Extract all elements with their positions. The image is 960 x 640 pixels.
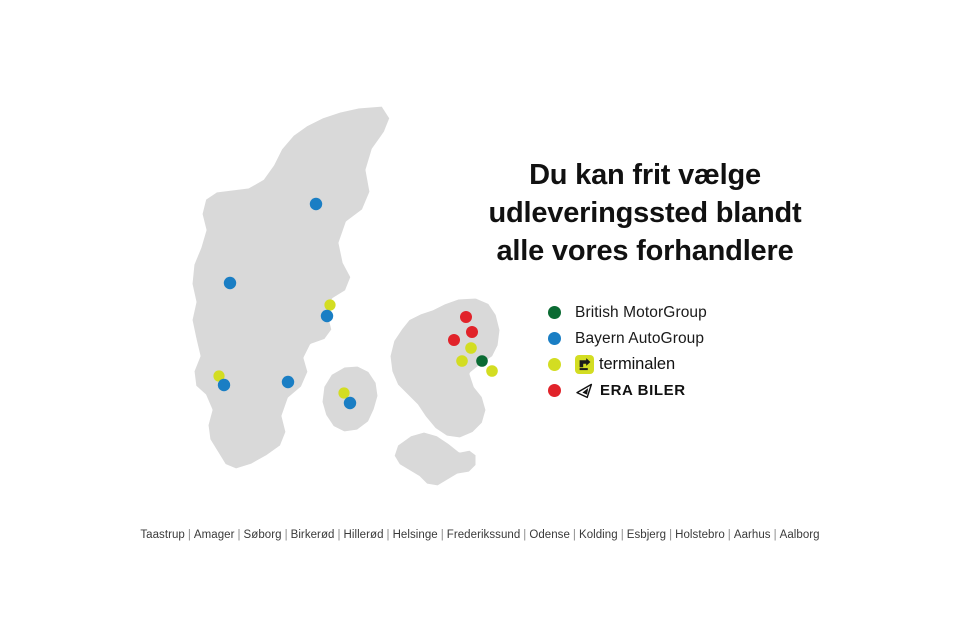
city-name[interactable]: Hillerød <box>344 529 384 541</box>
terminalen-logo: terminalen <box>575 355 675 374</box>
terminalen-arrow-icon <box>575 355 594 374</box>
city-separator: | <box>235 529 244 541</box>
city-separator: | <box>438 529 447 541</box>
city-name[interactable]: Frederikssund <box>447 529 521 541</box>
map-marker[interactable] <box>344 397 356 409</box>
city-separator: | <box>282 529 291 541</box>
legend-item-terminalen[interactable]: terminalen <box>548 352 848 377</box>
map-marker[interactable] <box>456 355 468 367</box>
legend-dot-blue <box>548 332 561 345</box>
legend-dot-red <box>548 384 561 397</box>
legend-item-era-biler[interactable]: ERA BILER <box>548 378 848 403</box>
city-separator: | <box>384 529 393 541</box>
city-separator: | <box>570 529 579 541</box>
city-separator: | <box>725 529 734 541</box>
city-name[interactable]: Holstebro <box>675 529 725 541</box>
terminalen-wordmark: terminalen <box>599 355 675 374</box>
city-name[interactable]: Taastrup <box>140 529 185 541</box>
map-marker[interactable] <box>338 387 349 398</box>
headline-line-1: Du kan frit vælge <box>470 156 820 194</box>
poster-canvas: Du kan frit vælge udleveringssted blandt… <box>0 0 960 640</box>
map-marker[interactable] <box>465 342 477 354</box>
city-name[interactable]: Helsinge <box>393 529 438 541</box>
legend-item-bayern-autogroup[interactable]: Bayern AutoGroup <box>548 326 848 351</box>
map-marker[interactable] <box>218 379 230 391</box>
city-separator: | <box>771 529 780 541</box>
map-marker[interactable] <box>224 277 236 289</box>
map-marker[interactable] <box>324 299 335 310</box>
city-name[interactable]: Kolding <box>579 529 618 541</box>
map-marker[interactable] <box>486 365 498 377</box>
map-marker[interactable] <box>321 310 333 322</box>
era-biler-logo: ERA BILER <box>575 382 686 399</box>
city-separator: | <box>618 529 627 541</box>
legend-dot-green <box>548 306 561 319</box>
legend-dot-yellowgreen <box>548 358 561 371</box>
map-marker[interactable] <box>466 326 478 338</box>
map-region-zealand <box>388 296 502 440</box>
city-name[interactable]: Amager <box>194 529 235 541</box>
map-marker[interactable] <box>282 376 294 388</box>
city-name[interactable]: Birkerød <box>291 529 335 541</box>
city-name[interactable]: Aarhus <box>734 529 771 541</box>
city-name[interactable]: Odense <box>529 529 570 541</box>
city-separator: | <box>334 529 343 541</box>
terminalen-mark-icon <box>575 355 594 374</box>
city-name[interactable]: Søborg <box>244 529 282 541</box>
map-marker[interactable] <box>460 311 472 323</box>
map-marker[interactable] <box>448 334 460 346</box>
era-biler-wordmark: ERA BILER <box>600 382 686 399</box>
era-triangle-icon <box>575 383 594 399</box>
headline-line-3: alle vores forhandlere <box>470 232 820 270</box>
map-marker[interactable] <box>310 198 322 210</box>
city-separator: | <box>185 529 194 541</box>
page-title: Du kan frit vælge udleveringssted blandt… <box>470 156 820 270</box>
city-separator: | <box>520 529 529 541</box>
city-name[interactable]: Esbjerg <box>627 529 666 541</box>
legend-label-british-motorgroup: British MotorGroup <box>575 304 707 322</box>
headline-line-2: udleveringssted blandt <box>470 194 820 232</box>
map-marker[interactable] <box>476 355 488 367</box>
era-triangle-svg <box>575 383 594 399</box>
legend: British MotorGroup Bayern AutoGroup term… <box>548 300 848 404</box>
city-separator: | <box>666 529 675 541</box>
legend-label-bayern-autogroup: Bayern AutoGroup <box>575 330 704 348</box>
legend-item-british-motorgroup[interactable]: British MotorGroup <box>548 300 848 325</box>
city-name[interactable]: Aalborg <box>780 529 820 541</box>
city-list: Taastrup|Amager|Søborg|Birkerød|Hillerød… <box>0 529 960 541</box>
